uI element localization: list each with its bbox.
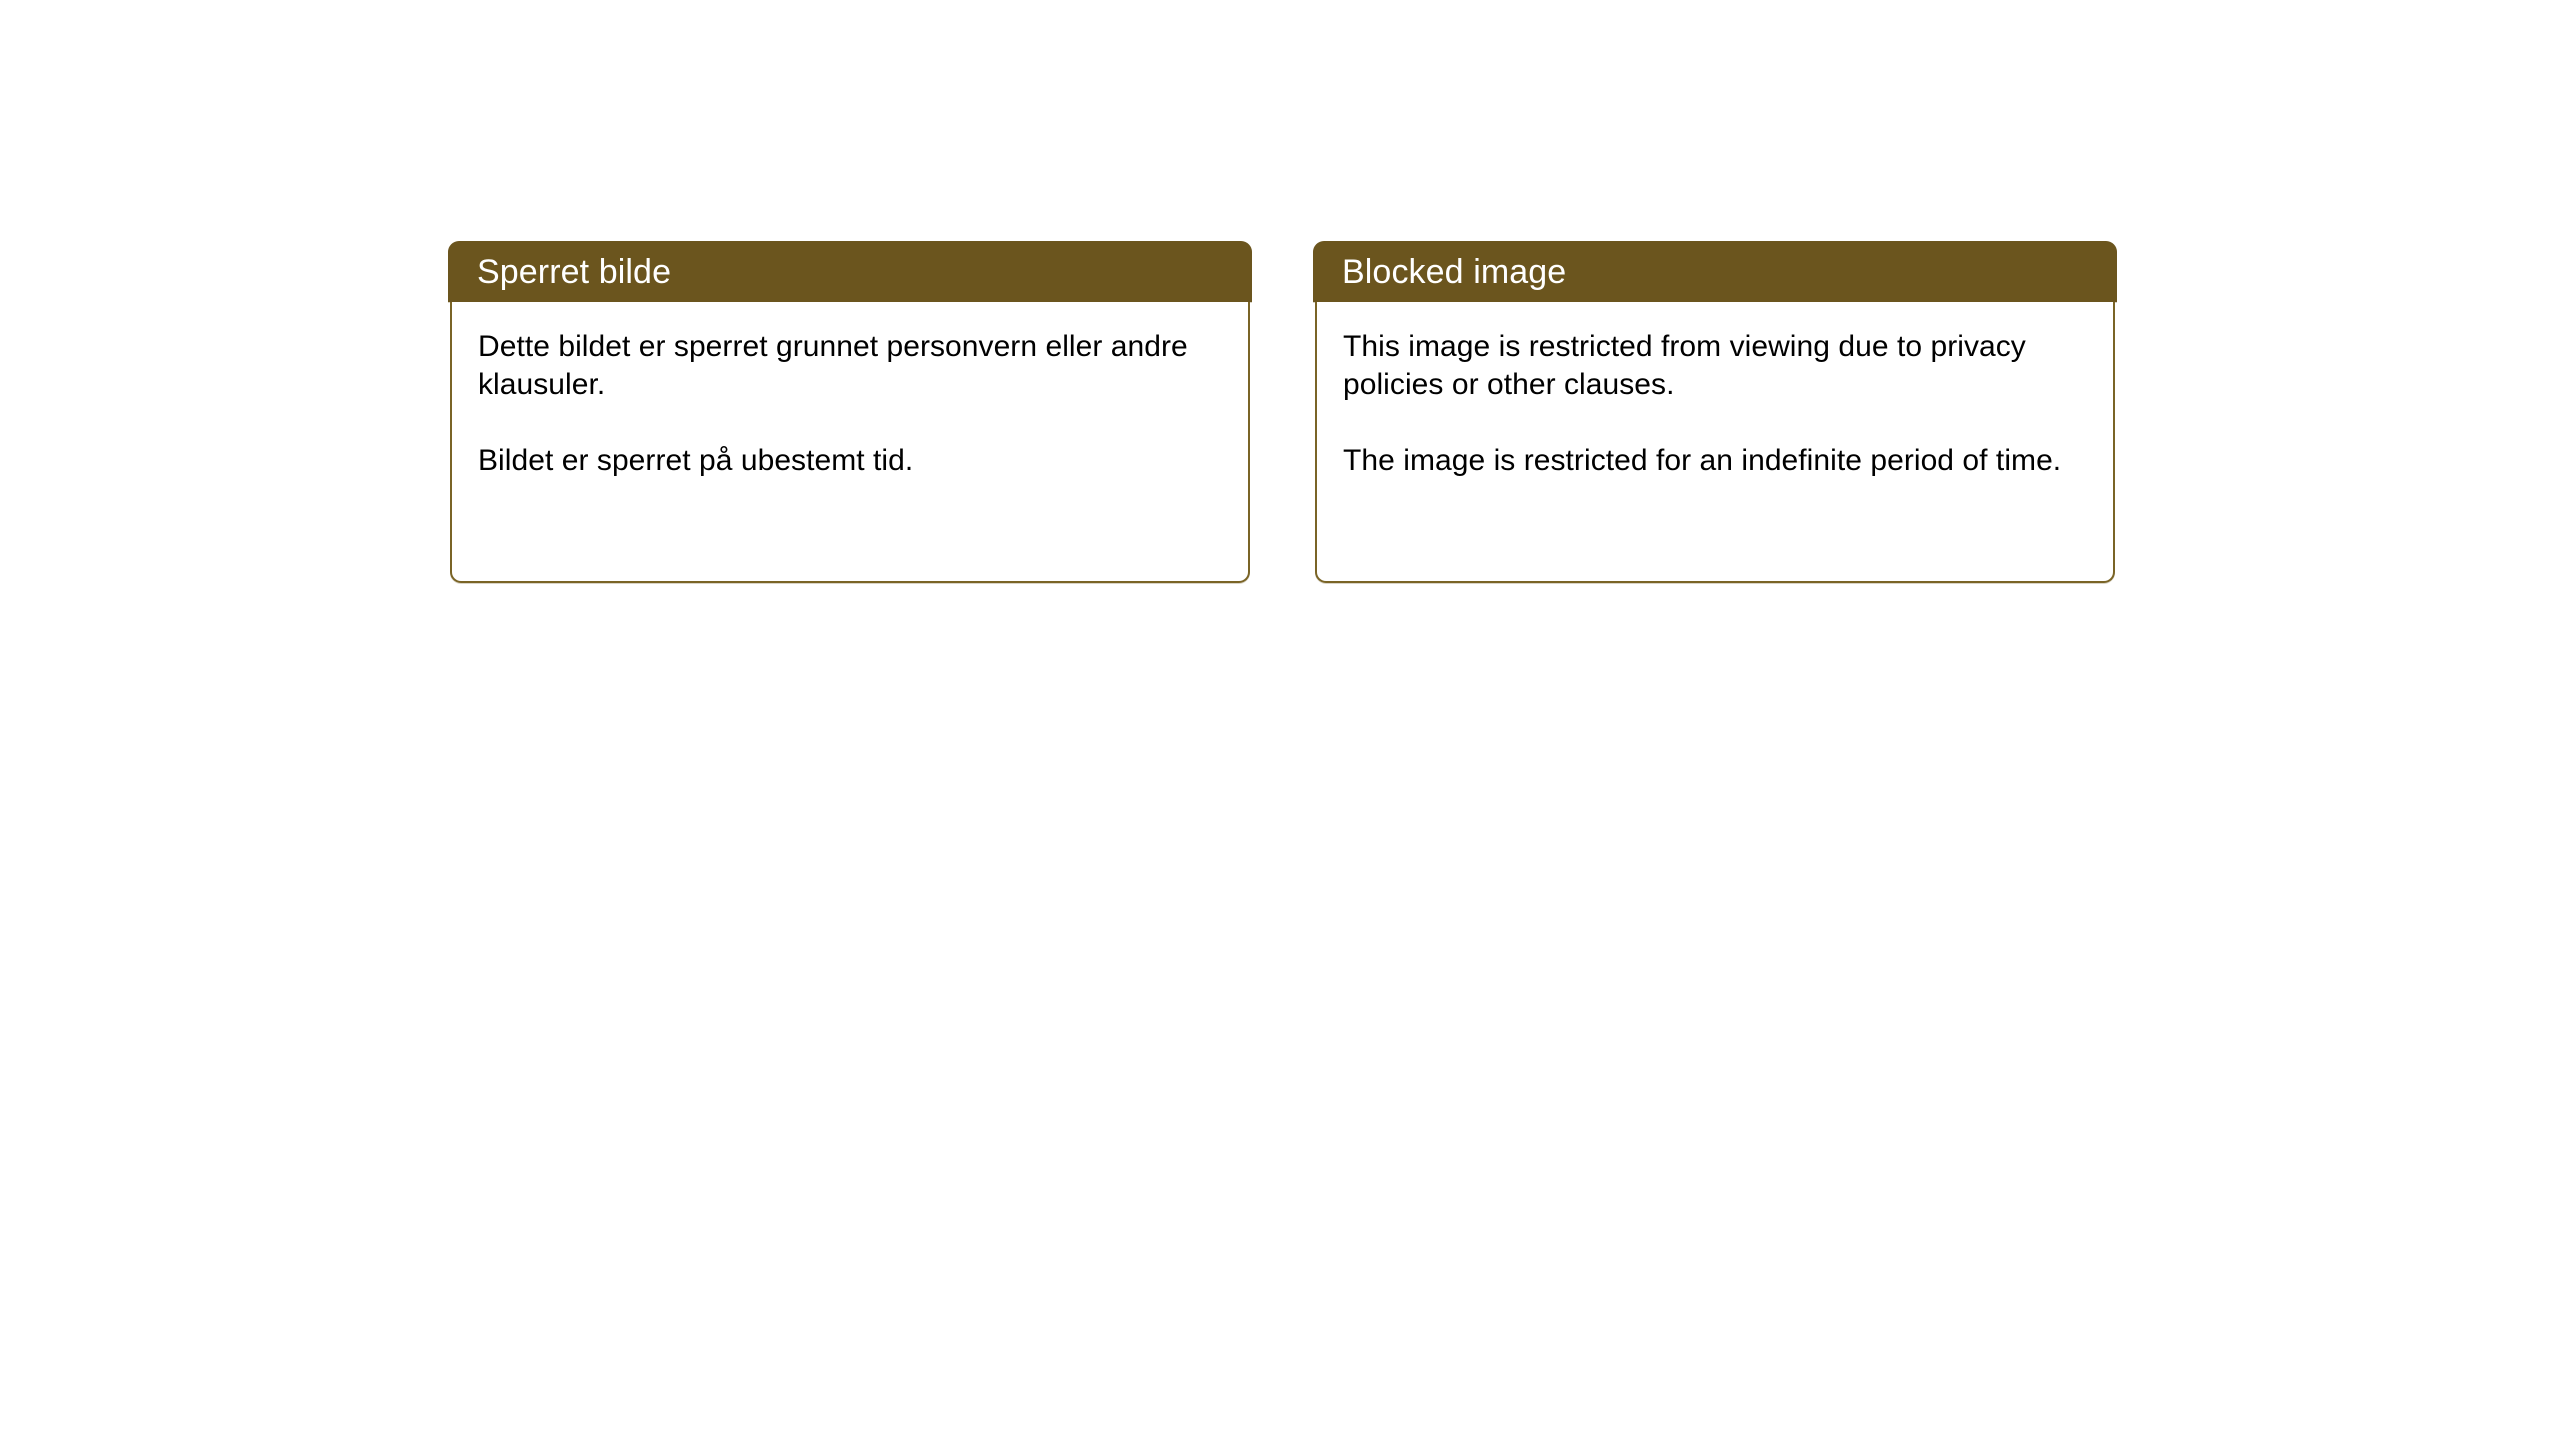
notice-card-title: Sperret bilde <box>477 252 671 292</box>
notice-card-paragraph: Bildet er sperret på ubestemt tid. <box>478 442 1222 480</box>
notice-card-body: Dette bildet er sperret grunnet personve… <box>450 302 1250 583</box>
notice-card-paragraph: The image is restricted for an indefinit… <box>1343 442 2087 480</box>
notice-card-title: Blocked image <box>1342 252 1566 292</box>
notice-card-header: Blocked image <box>1313 241 2117 302</box>
page-root: Sperret bilde Dette bildet er sperret gr… <box>0 0 2560 1440</box>
notice-card-body: This image is restricted from viewing du… <box>1315 302 2115 583</box>
notice-card-header: Sperret bilde <box>448 241 1252 302</box>
notice-card-paragraph: Dette bildet er sperret grunnet personve… <box>478 328 1222 404</box>
notice-card-blocked-image-no: Sperret bilde Dette bildet er sperret gr… <box>448 241 1252 583</box>
notice-card-rail: Sperret bilde Dette bildet er sperret gr… <box>448 241 2117 583</box>
notice-card-paragraph: This image is restricted from viewing du… <box>1343 328 2087 404</box>
notice-card-blocked-image-en: Blocked image This image is restricted f… <box>1313 241 2117 583</box>
